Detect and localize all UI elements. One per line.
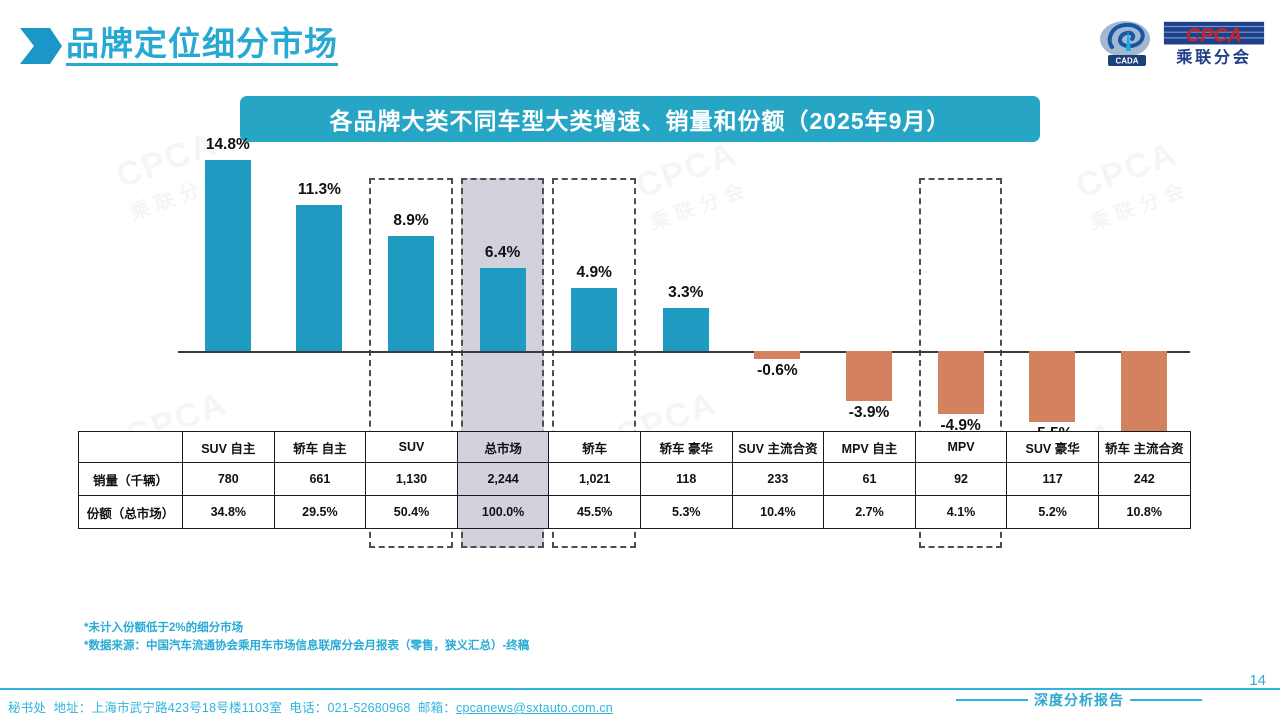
bar-value-label: 3.3% xyxy=(668,284,703,302)
bar xyxy=(754,351,800,359)
bar-value-label: -3.9% xyxy=(849,404,890,422)
bar-value-label: -0.6% xyxy=(757,362,798,380)
table-header-cell: SUV 主流合资 xyxy=(732,432,824,463)
footer-email-label: 邮箱： xyxy=(418,701,456,715)
table-cell: 50.4% xyxy=(366,496,458,529)
report-tag-rule-right xyxy=(1130,699,1202,701)
bar-value-label: 8.9% xyxy=(393,212,428,230)
table-cell: 242 xyxy=(1098,463,1190,496)
table-cell: 661 xyxy=(274,463,366,496)
table-cell: 780 xyxy=(183,463,275,496)
bar xyxy=(480,268,526,351)
bar-value-label: 6.4% xyxy=(485,244,520,262)
table-cell: 4.1% xyxy=(915,496,1007,529)
table-cell: 2,244 xyxy=(457,463,549,496)
data-table: SUV 自主轿车 自主SUV总市场轿车轿车 豪华SUV 主流合资MPV 自主MP… xyxy=(78,431,1191,529)
bar-chart: 14.8%11.3%8.9%6.4%4.9%3.3%-0.6%-3.9%-4.9… xyxy=(0,0,1280,721)
table-cell: 118 xyxy=(640,463,732,496)
footer-email-link[interactable]: cpcanews@sxtauto.com.cn xyxy=(456,701,613,715)
table-header-cell: 总市场 xyxy=(457,432,549,463)
table-row: 销量（千辆）7806611,1302,2441,0211182336192117… xyxy=(79,463,1191,496)
table-header-row: SUV 自主轿车 自主SUV总市场轿车轿车 豪华SUV 主流合资MPV 自主MP… xyxy=(79,432,1191,463)
page-number: 14 xyxy=(1249,672,1266,689)
table-cell: 45.5% xyxy=(549,496,641,529)
footnotes: *未计入份额低于2%的细分市场 *数据来源：中国汽车流通协会乘用车市场信息联席分… xyxy=(84,620,529,656)
table-cell: 1,130 xyxy=(366,463,458,496)
table-corner-cell xyxy=(79,432,183,463)
table-cell: 5.2% xyxy=(1007,496,1099,529)
footer-org: 秘书处 xyxy=(8,701,46,715)
bar xyxy=(846,351,892,401)
table-cell: 1,021 xyxy=(549,463,641,496)
table-header-cell: SUV xyxy=(366,432,458,463)
table-header-cell: 轿车 xyxy=(549,432,641,463)
report-tag-rule-left xyxy=(956,699,1028,701)
bar-value-label: 11.3% xyxy=(298,181,341,199)
bar-value-label: 14.8% xyxy=(206,136,250,154)
table-cell: 100.0% xyxy=(457,496,549,529)
bar xyxy=(205,160,251,351)
bar xyxy=(571,288,617,351)
table-cell: 2.7% xyxy=(824,496,916,529)
bar xyxy=(938,351,984,414)
table-header-cell: 轿车 自主 xyxy=(274,432,366,463)
bar-value-label: 4.9% xyxy=(577,264,612,282)
table-header-cell: MPV 自主 xyxy=(824,432,916,463)
footer-address: 上海市武宁路423号18号楼1103室 xyxy=(92,701,282,715)
table-cell: 117 xyxy=(1007,463,1099,496)
table-header-cell: SUV 自主 xyxy=(183,432,275,463)
bar xyxy=(388,236,434,351)
table-cell: 10.8% xyxy=(1098,496,1190,529)
table-cell: 34.8% xyxy=(183,496,275,529)
table-cell: 233 xyxy=(732,463,824,496)
table-header-cell: 轿车 主流合资 xyxy=(1098,432,1190,463)
bar xyxy=(296,205,342,351)
bar xyxy=(1029,351,1075,422)
table-header-cell: 轿车 豪华 xyxy=(640,432,732,463)
footnote-1: *未计入份额低于2%的细分市场 xyxy=(84,620,529,638)
table-cell: 29.5% xyxy=(274,496,366,529)
table-row-label: 销量（千辆） xyxy=(79,463,183,496)
table-cell: 5.3% xyxy=(640,496,732,529)
table-row: 份额（总市场）34.8%29.5%50.4%100.0%45.5%5.3%10.… xyxy=(79,496,1191,529)
footer-phone-label: 电话： xyxy=(289,701,327,715)
footer-phone: 021-52680968 xyxy=(328,701,411,715)
table-cell: 61 xyxy=(824,463,916,496)
table-header-cell: SUV 豪华 xyxy=(1007,432,1099,463)
footnote-2: *数据来源：中国汽车流通协会乘用车市场信息联席分会月报表（零售，狭义汇总）-终稿 xyxy=(84,638,529,656)
table-cell: 10.4% xyxy=(732,496,824,529)
report-tag-text: 深度分析报告 xyxy=(1034,690,1124,710)
footer-contact: 秘书处 地址：上海市武宁路423号18号楼1103室 电话：021-526809… xyxy=(8,697,613,716)
footer-address-label: 地址： xyxy=(53,701,91,715)
report-tag: 深度分析报告 xyxy=(956,690,1202,710)
table-cell: 92 xyxy=(915,463,1007,496)
bar xyxy=(663,308,709,351)
table-header-cell: MPV xyxy=(915,432,1007,463)
table-row-label: 份额（总市场） xyxy=(79,496,183,529)
